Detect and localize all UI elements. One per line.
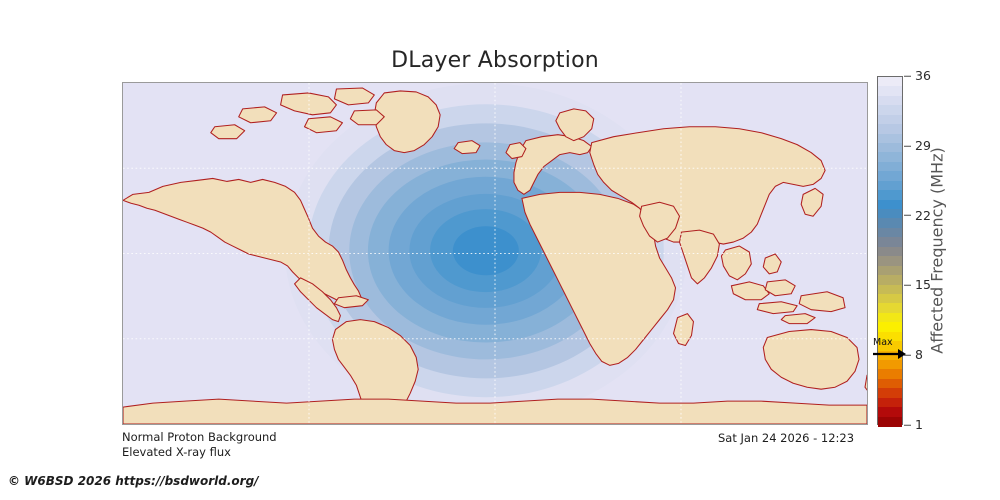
tick-mark [904,145,911,146]
colorbar-max-marker: Max [872,338,920,364]
colorbar-gradient [877,76,903,425]
timestamp: Sat Jan 24 2026 - 12:23 [718,431,854,445]
copyright-notice: © W6BSD 2026 https://bsdworld.org/ [8,474,259,488]
colorbar-axis-label-text: Affected Frequency (MHz) [928,147,947,353]
colorbar-segment [878,417,902,427]
max-marker-label: Max [873,338,893,348]
colorbar-axis-label: Affected Frequency (MHz) [925,76,949,425]
tick-label: 1 [915,419,923,432]
chart-title-text: DLayer Absorption [391,48,599,73]
figure-root: DLayer Absorption [0,0,1000,500]
map-axes [122,82,868,425]
tick-mark [904,425,911,426]
arrow-right-icon [872,348,906,360]
page-title: DLayer Absorption [0,48,1000,73]
map-canvas [123,83,867,424]
status-line-proton: Normal Proton Background [122,430,277,445]
status-line-xray: Elevated X-ray flux [122,445,277,460]
tick-mark [904,285,911,286]
status-text: Normal Proton Background Elevated X-ray … [122,430,277,460]
colorbar [877,76,903,425]
tick-mark [904,76,911,77]
tick-mark [904,215,911,216]
world-geography [123,83,867,424]
colorbar-tick: 1 [904,419,923,432]
